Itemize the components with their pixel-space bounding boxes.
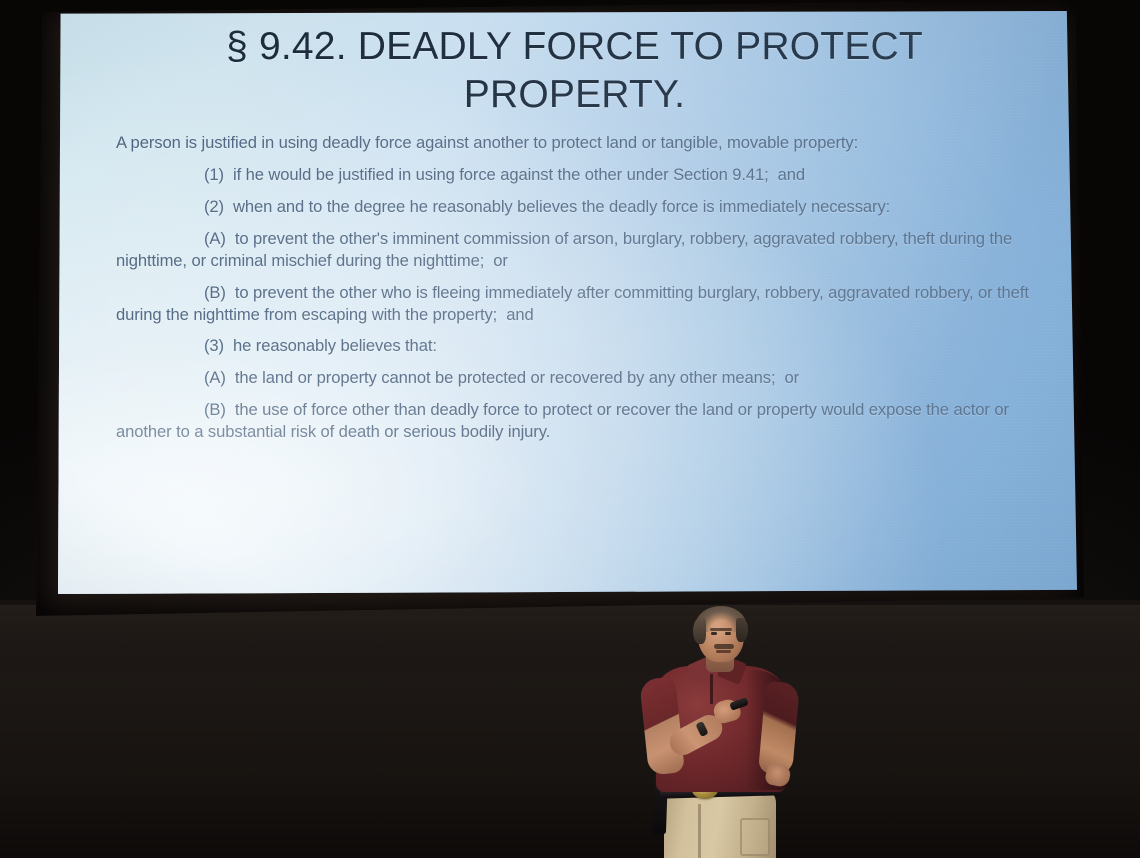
speaker-mustache — [714, 644, 734, 649]
slide-paragraph-2a: (A) to prevent the other's imminent comm… — [116, 228, 1035, 272]
slide-paragraph-1-text: (1) if he would be justified in using fo… — [204, 165, 805, 184]
trouser-seam — [698, 804, 701, 858]
slide-paragraph-3b-text: (B) the use of force other than deadly f… — [116, 400, 1013, 441]
slide-body: A person is justified in using deadly fo… — [116, 132, 1049, 443]
speaker-left-eye — [711, 632, 717, 635]
slide-paragraph-2a-text: (A) to prevent the other's imminent comm… — [116, 229, 1017, 270]
slide-paragraph-3a: (A) the land or property cannot be prote… — [116, 367, 1035, 389]
slide-paragraph-3b: (B) the use of force other than deadly f… — [116, 399, 1035, 443]
speaker-right-arm — [758, 681, 800, 776]
speaker-figure — [636, 604, 812, 858]
polo-placket — [710, 674, 713, 704]
slide-paragraph-1: (1) if he would be justified in using fo… — [116, 164, 1035, 186]
stage-floor-highlight — [0, 605, 1140, 665]
projected-slide: § 9.42. DEADLY FORCE TO PROTECT PROPERTY… — [58, 11, 1077, 594]
slide-paragraph-intro: A person is justified in using deadly fo… — [116, 132, 1035, 154]
slide-paragraph-2: (2) when and to the degree he reasonably… — [116, 196, 1035, 218]
slide-paragraph-2b: (B) to prevent the other who is fleeing … — [116, 282, 1035, 326]
slide-paragraph-2b-text: (B) to prevent the other who is fleeing … — [116, 283, 1033, 324]
speaker-brow — [710, 628, 732, 631]
slide-content: § 9.42. DEADLY FORCE TO PROTECT PROPERTY… — [58, 11, 1077, 594]
slide-title: § 9.42. DEADLY FORCE TO PROTECT PROPERTY… — [116, 19, 1049, 118]
presentation-photo-scene: § 9.42. DEADLY FORCE TO PROTECT PROPERTY… — [0, 0, 1140, 858]
speaker-mouth — [716, 650, 731, 653]
speaker-right-eye — [725, 632, 731, 635]
slide-paragraph-2-text: (2) when and to the degree he reasonably… — [204, 197, 890, 216]
cargo-pocket — [740, 818, 770, 856]
slide-paragraph-3: (3) he reasonably believes that: — [116, 335, 1035, 357]
speaker-hair-left-side — [693, 618, 706, 644]
speaker-hair-right-side — [736, 618, 748, 642]
slide-paragraph-3a-text: (A) the land or property cannot be prote… — [204, 368, 799, 387]
slide-paragraph-3-text: (3) he reasonably believes that: — [204, 336, 437, 355]
